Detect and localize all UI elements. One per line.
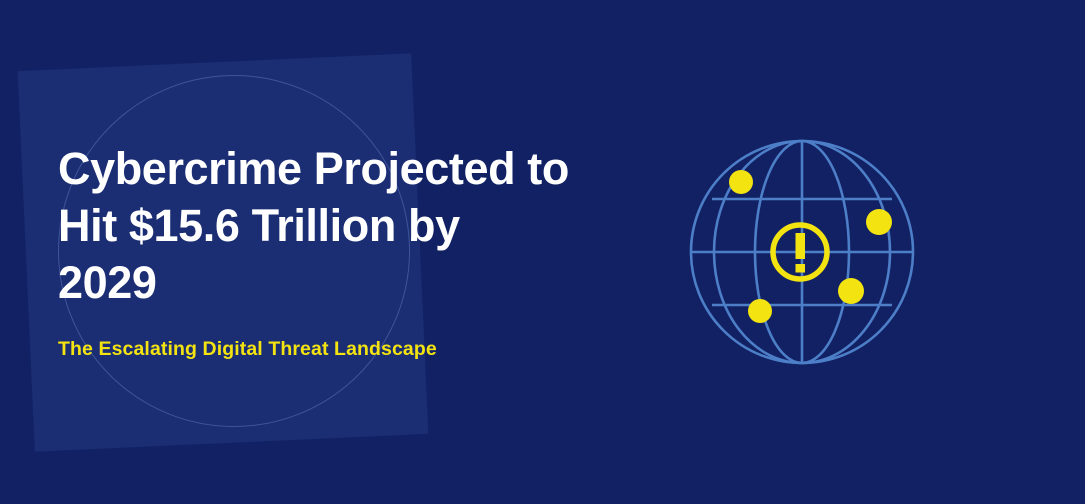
exclamation-dot	[796, 264, 806, 273]
globe-icon	[676, 126, 928, 378]
globe-threat-graphic	[676, 126, 928, 378]
threat-dot-east	[866, 209, 892, 235]
slide-canvas: Cybercrime Projected to Hit $15.6 Trilli…	[0, 0, 1085, 504]
page-subtitle: The Escalating Digital Threat Landscape	[58, 311, 658, 361]
exclamation-bar	[796, 233, 806, 259]
page-title: Cybercrime Projected to Hit $15.6 Trilli…	[58, 140, 658, 311]
title-block: Cybercrime Projected to Hit $15.6 Trilli…	[58, 140, 658, 361]
threat-dot-southeast	[838, 278, 864, 304]
threat-dots-group	[729, 170, 892, 323]
threat-dot-southwest	[748, 299, 772, 323]
threat-dot-northwest	[729, 170, 753, 194]
